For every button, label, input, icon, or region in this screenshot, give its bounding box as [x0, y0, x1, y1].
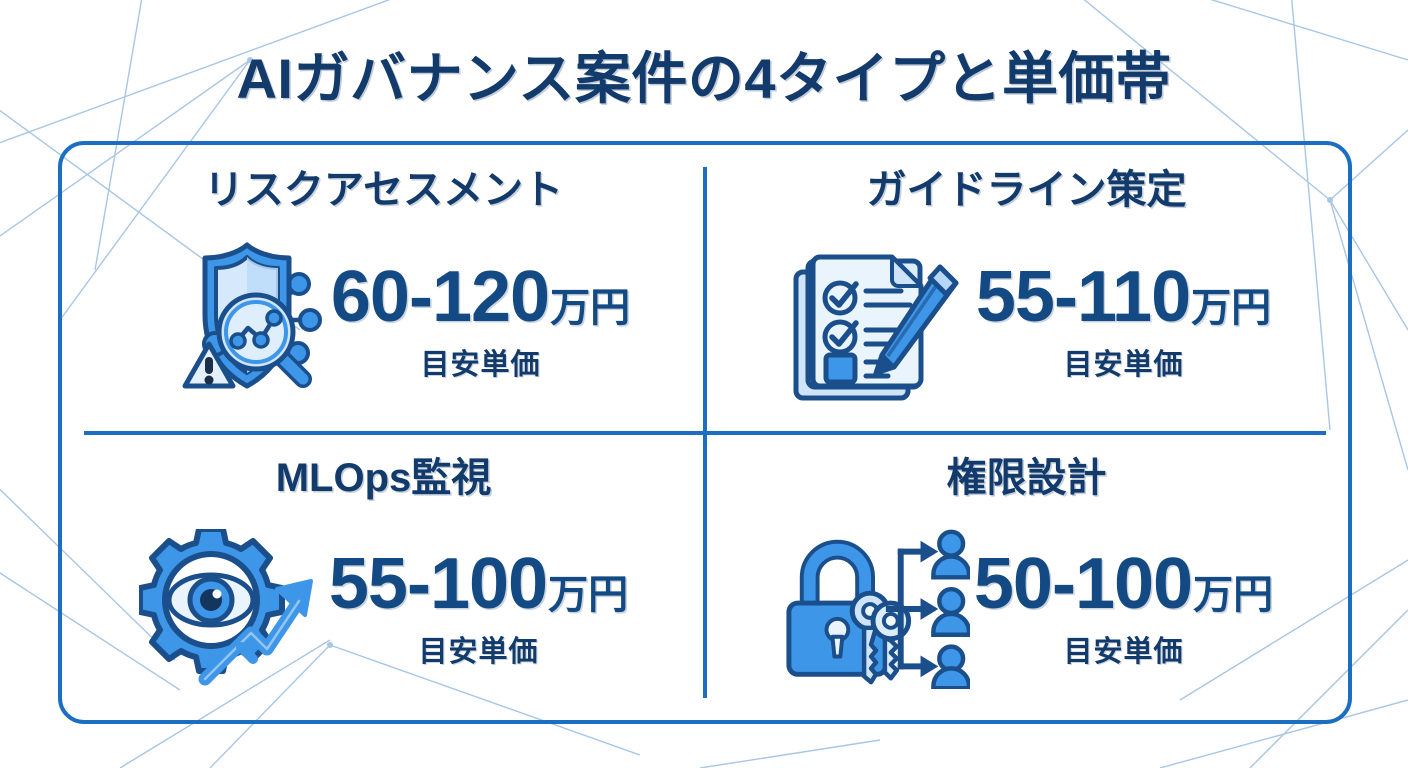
price-block-mlops-monitoring: 55-100 万円 目安単価 — [329, 548, 628, 670]
price-unit-label: 万円 — [550, 288, 630, 328]
price-caption: 目安単価 — [418, 628, 538, 670]
price-range-value: 60-120 — [331, 261, 549, 333]
price-caption: 目安単価 — [1063, 628, 1183, 670]
quadrant-title-permission-design: 権限設計 — [947, 455, 1107, 501]
quadrant-title-risk-assessment: リスクアセスメント — [204, 167, 563, 213]
price-line: 50-100 万円 — [974, 548, 1273, 620]
infographic-stage: AIガバナンス案件の4タイプと単価帯 リスクアセスメント — [0, 0, 1408, 768]
quadrant-risk-assessment[interactable]: リスクアセスメント — [62, 145, 705, 433]
quadrant-body: 55-110 万円 目安単価 — [717, 219, 1336, 425]
quadrant-title-mlops-monitoring: MLOps監視 — [276, 455, 492, 501]
quadrant-body: 60-120 万円 目安単価 — [74, 219, 693, 425]
quadrant-body: 55-100 万円 目安単価 — [74, 507, 693, 713]
page-title: AIガバナンス案件の4タイプと単価帯 — [0, 34, 1408, 115]
price-line: 55-110 万円 — [976, 261, 1271, 333]
price-unit-label: 万円 — [1191, 288, 1271, 328]
price-unit-label: 万円 — [1193, 575, 1273, 615]
quadrant-permission-design[interactable]: 権限設計 — [705, 433, 1348, 721]
padlock-keys-users-icon — [780, 524, 970, 694]
price-range-value: 55-110 — [976, 261, 1190, 333]
shield-magnifier-alert-icon — [141, 237, 331, 407]
quadrant-card: リスクアセスメント — [58, 141, 1352, 724]
quadrant-guideline-development[interactable]: ガイドライン策定 — [705, 145, 1348, 433]
quadrant-title-guideline-development: ガイドライン策定 — [867, 167, 1187, 213]
gear-eye-trend-arrow-icon — [139, 524, 329, 694]
horizontal-divider — [84, 431, 1326, 435]
price-line: 55-100 万円 — [329, 548, 628, 620]
price-block-risk-assessment: 60-120 万円 目安単価 — [331, 261, 630, 383]
price-caption: 目安単価 — [1063, 341, 1183, 383]
documents-checklist-pencil-icon — [782, 237, 972, 407]
quadrant-mlops-monitoring[interactable]: MLOps監視 — [62, 433, 705, 721]
price-line: 60-120 万円 — [331, 261, 630, 333]
price-block-permission-design: 50-100 万円 目安単価 — [974, 548, 1273, 670]
price-caption: 目安単価 — [420, 341, 540, 383]
price-range-value: 50-100 — [974, 548, 1192, 620]
price-block-guideline-development: 55-110 万円 目安単価 — [976, 261, 1271, 383]
price-range-value: 55-100 — [329, 548, 547, 620]
price-unit-label: 万円 — [548, 575, 628, 615]
quadrant-body: 50-100 万円 目安単価 — [717, 507, 1336, 713]
